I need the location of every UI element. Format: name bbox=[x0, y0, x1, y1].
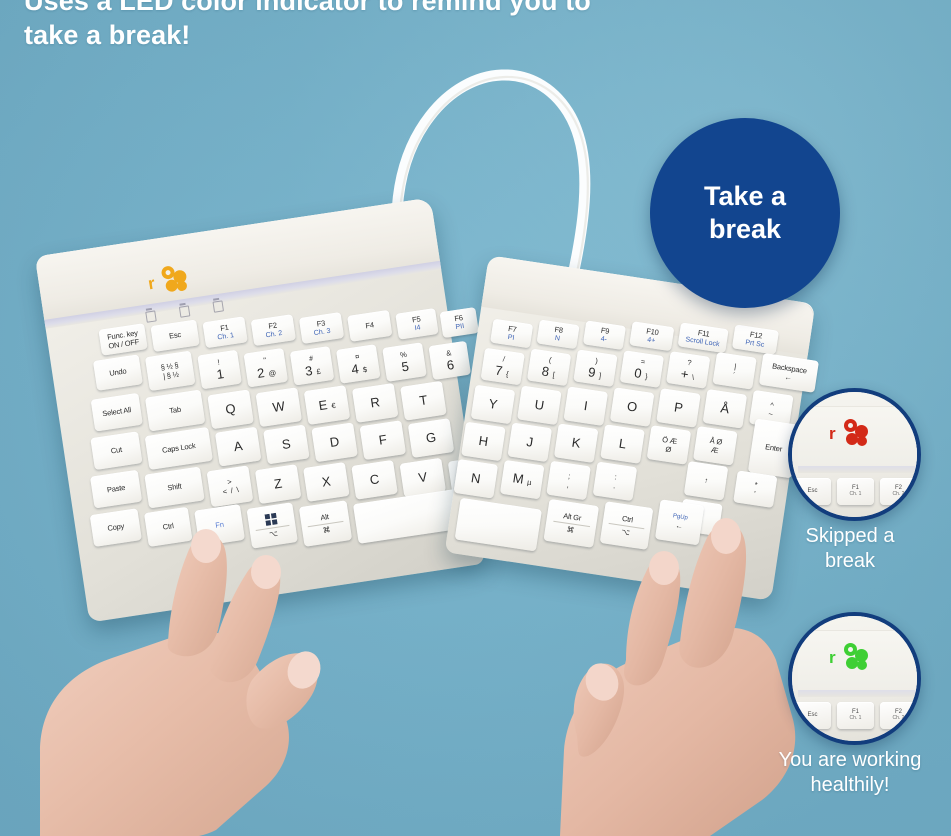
rgo-logo-hole bbox=[848, 423, 853, 428]
battery-led-icon bbox=[144, 307, 157, 321]
key-j[interactable]: J bbox=[507, 423, 552, 463]
key-section[interactable]: § ½ § | § ½ bbox=[145, 351, 196, 391]
rgo-logo-dot-4 bbox=[857, 660, 867, 670]
caption-line-1: Skipped a bbox=[806, 525, 895, 547]
key-ae[interactable]: Å Ø Æ bbox=[693, 426, 738, 466]
take-a-break-badge[interactable]: Take a break bbox=[650, 118, 840, 308]
key-p[interactable]: P bbox=[656, 388, 701, 428]
key-n[interactable]: N bbox=[454, 459, 499, 499]
headline: Uses a LED color indicator to remind you… bbox=[24, 0, 664, 52]
callout-key-esc: Esc bbox=[794, 702, 831, 729]
callout-key-f1: F1 Ch. 1 bbox=[837, 478, 874, 505]
rgo-logo-hole bbox=[848, 647, 853, 652]
caption-line-1: You are working bbox=[779, 749, 922, 771]
key-colon[interactable]: : . bbox=[593, 462, 638, 502]
callout-caption-skipped: Skipped a break bbox=[750, 524, 950, 574]
rgo-led-logo-red: r bbox=[829, 418, 875, 448]
badge-text: Take a break bbox=[704, 180, 786, 246]
callout-key-f1: F1 Ch. 1 bbox=[837, 702, 874, 729]
callout-key-f2: F2 Ch. 2 bbox=[880, 702, 917, 729]
rgo-logo-letter: r bbox=[147, 275, 156, 293]
key-6[interactable]: & 6 bbox=[428, 341, 471, 380]
badge-line-1: Take a bbox=[704, 181, 786, 211]
rgo-led-logo-green: r bbox=[829, 642, 875, 672]
key-accent[interactable]: | ´ bbox=[712, 352, 756, 390]
rgo-logo-dot-4 bbox=[857, 436, 867, 446]
key-f[interactable]: F bbox=[360, 420, 407, 460]
callout-key-row: Esc F1 Ch. 1 F2 Ch. 2 bbox=[794, 478, 917, 518]
key-q[interactable]: Q bbox=[207, 389, 254, 429]
key-i[interactable]: I bbox=[563, 386, 608, 426]
callout-magnifier-skipped: r Esc F1 Ch. 1 F2 Ch. 2 bbox=[788, 388, 921, 521]
key-u[interactable]: U bbox=[517, 386, 562, 426]
rgo-logo-letter: r bbox=[829, 425, 836, 442]
callout-key-f2: F2 Ch. 2 bbox=[880, 478, 917, 505]
key-9[interactable]: ) 9 ] bbox=[573, 349, 617, 387]
key-2[interactable]: " 2 @ bbox=[244, 348, 289, 388]
caption-line-2: healthily! bbox=[811, 774, 890, 796]
key-arrow-up[interactable]: ↑ bbox=[684, 461, 729, 501]
break-led-icon bbox=[211, 297, 224, 311]
key-l[interactable]: L bbox=[600, 424, 645, 464]
key-0[interactable]: = 0 } bbox=[620, 350, 664, 388]
key-s[interactable]: S bbox=[263, 425, 310, 465]
key-plus[interactable]: ? + \ bbox=[666, 351, 710, 389]
headline-line-1: Uses a LED color indicator to remind you… bbox=[24, 0, 664, 18]
key-4[interactable]: ¤ 4 $ bbox=[336, 344, 381, 384]
key-aring[interactable]: Å bbox=[703, 389, 748, 429]
callout-magnifier-healthy: r Esc F1 Ch. 1 F2 Ch. 2 bbox=[788, 612, 921, 745]
key-w[interactable]: W bbox=[256, 387, 303, 427]
key-o[interactable]: O bbox=[610, 387, 655, 427]
key-8[interactable]: ( 8 [ bbox=[527, 349, 571, 387]
rgo-logo-letter: r bbox=[829, 649, 836, 666]
key-7[interactable]: / 7 { bbox=[481, 348, 525, 386]
bluetooth-led-icon bbox=[177, 302, 190, 316]
rgo-logo-dot-4 bbox=[176, 280, 188, 292]
badge-line-2: break bbox=[709, 214, 781, 244]
product-photo-stage: Uses a LED color indicator to remind you… bbox=[0, 0, 951, 836]
key-t[interactable]: T bbox=[400, 381, 447, 421]
key-a[interactable]: A bbox=[215, 427, 262, 467]
key-y[interactable]: Y bbox=[471, 385, 516, 425]
key-semicolon[interactable]: ; , bbox=[546, 461, 591, 501]
key-k[interactable]: K bbox=[554, 423, 599, 463]
callout-caption-healthy: You are working healthily! bbox=[750, 748, 950, 798]
callout-key-esc: Esc bbox=[794, 478, 831, 505]
callout-key-row: Esc F1 Ch. 1 F2 Ch. 2 bbox=[794, 702, 917, 742]
key-f6[interactable]: F6 PII bbox=[440, 307, 479, 338]
key-3[interactable]: # 3 £ bbox=[290, 346, 335, 386]
key-d[interactable]: D bbox=[311, 422, 358, 462]
key-oe[interactable]: Ö Æ Ø bbox=[647, 425, 692, 465]
key-e[interactable]: E € bbox=[304, 385, 351, 425]
key-h[interactable]: H bbox=[461, 422, 506, 462]
headline-line-2: take a break! bbox=[24, 18, 664, 52]
key-r[interactable]: R bbox=[352, 383, 399, 423]
key-5[interactable]: % 5 bbox=[382, 342, 427, 382]
key-m[interactable]: M µ bbox=[500, 460, 545, 500]
key-1[interactable]: ! 1 bbox=[197, 350, 242, 390]
key-g[interactable]: G bbox=[408, 418, 455, 458]
callout-led-strip bbox=[798, 466, 921, 473]
callout-led-strip bbox=[798, 690, 921, 697]
left-hand bbox=[20, 490, 400, 836]
caption-line-2: break bbox=[825, 550, 875, 572]
